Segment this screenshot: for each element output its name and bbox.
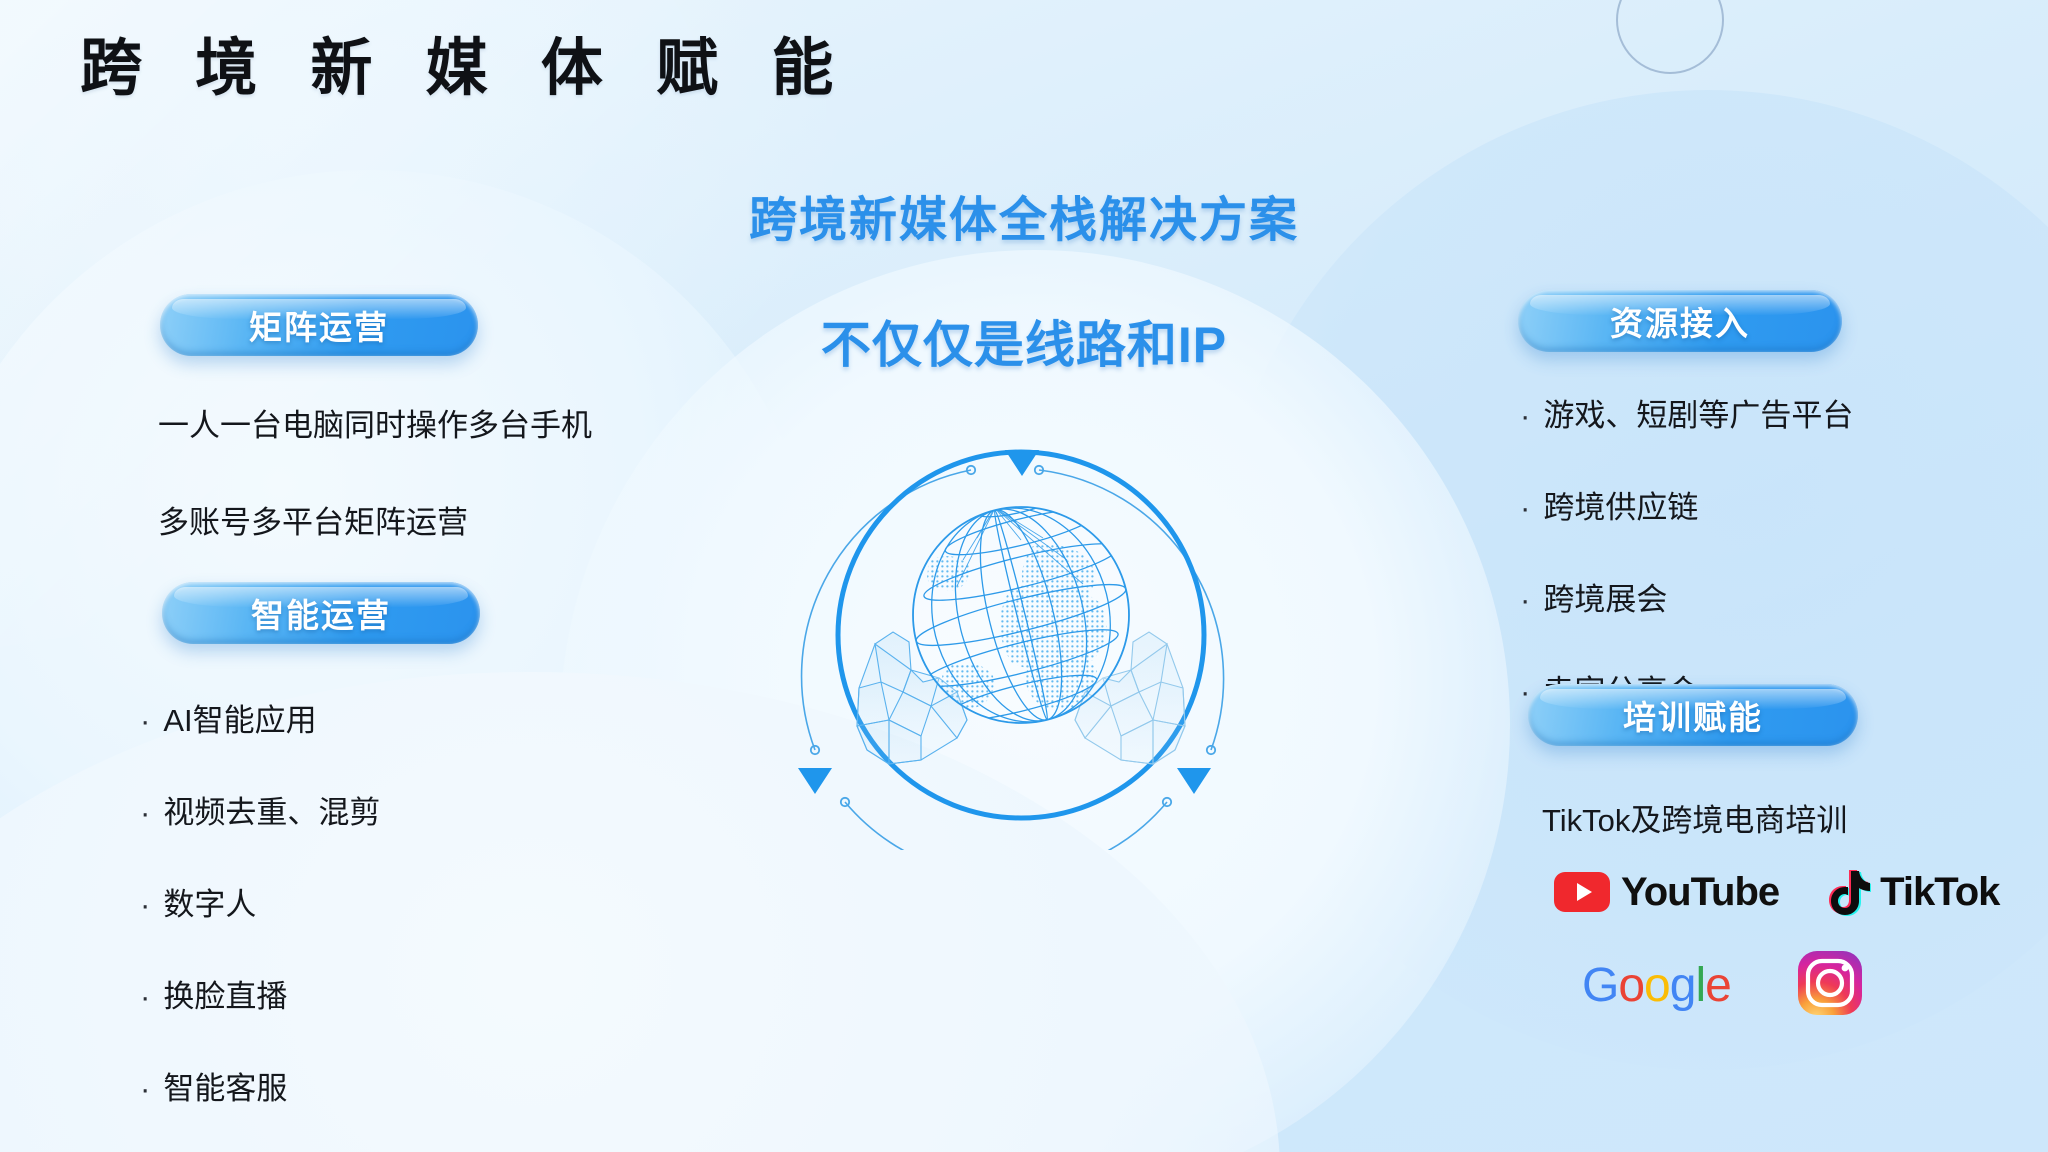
bullet-icon: · [140, 1073, 150, 1104]
google-letter: e [1705, 962, 1731, 1010]
triangle-marker-left [798, 768, 832, 794]
google-logo[interactable]: Google [1582, 962, 1731, 1010]
google-letter: o [1618, 962, 1644, 1010]
instagram-logo[interactable] [1797, 950, 1863, 1021]
triangle-marker-top [1005, 450, 1039, 476]
list-matrix-operation: 一人一台电脑同时操作多台手机 多账号多平台矩阵运营 [158, 400, 592, 594]
list-smart-operation: · AI智能应用 · 视频去重、混剪 · 数字人 · 换脸直播 · 智能客服 [140, 695, 380, 1152]
list-item-label: 数字人 [163, 879, 256, 924]
bullet-icon: · [1520, 492, 1530, 523]
youtube-logo[interactable]: YouTube [1554, 870, 1779, 915]
list-item: · AI智能应用 [140, 695, 380, 740]
slide-canvas: 跨 境 新 媒 体 赋 能 跨境新媒体全栈解决方案 不仅仅是线路和IP [0, 0, 2048, 1152]
badge-label: 资源接入 [1610, 297, 1750, 345]
list-item: · 数字人 [140, 879, 380, 924]
google-letter: G [1582, 962, 1618, 1010]
list-item-label: AI智能应用 [163, 695, 316, 740]
badge-resource-access[interactable]: 资源接入 [1518, 290, 1842, 352]
badge-smart-operation[interactable]: 智能运营 [162, 582, 480, 644]
google-letter: o [1644, 962, 1670, 1010]
list-item: · 换脸直播 [140, 971, 380, 1016]
center-heading-primary: 跨境新媒体全栈解决方案 [749, 180, 1299, 250]
list-item-label: 视频去重、混剪 [163, 787, 380, 832]
youtube-play-icon [1554, 872, 1610, 912]
center-heading-secondary: 不仅仅是线路和IP [821, 305, 1227, 377]
badge-label: 智能运营 [251, 589, 391, 637]
list-item: 一人一台电脑同时操作多台手机 [158, 400, 592, 445]
list-item: · 视频去重、混剪 [140, 787, 380, 832]
list-item-label: 跨境供应链 [1543, 482, 1698, 527]
google-letter: l [1695, 962, 1705, 1010]
bullet-icon: · [1520, 400, 1530, 431]
decorative-circle-icon [1616, 0, 1724, 74]
list-item: · 跨境展会 [1520, 574, 1853, 619]
triangle-marker-right [1177, 768, 1211, 794]
badge-training-empowerment[interactable]: 培训赋能 [1528, 684, 1858, 746]
tiktok-note-icon [1827, 868, 1871, 916]
list-item: · 跨境供应链 [1520, 482, 1853, 527]
bullet-icon: · [140, 797, 150, 828]
bullet-icon: · [140, 705, 150, 736]
partner-logo-group: YouTube TikTok Google [1530, 868, 1950, 1021]
instagram-camera-icon [1797, 950, 1863, 1016]
list-item-label: 游戏、短剧等广告平台 [1543, 390, 1853, 435]
list-item: 多账号多平台矩阵运营 [158, 497, 592, 542]
youtube-wordmark: YouTube [1621, 870, 1779, 915]
logo-row-bottom: Google [1530, 950, 1950, 1021]
badge-label: 矩阵运营 [249, 301, 389, 349]
bullet-icon: · [1520, 584, 1530, 615]
google-letter: g [1670, 962, 1696, 1010]
globe-svg [771, 420, 1271, 850]
list-item-label: 跨境展会 [1543, 574, 1667, 619]
badge-matrix-operation[interactable]: 矩阵运营 [160, 294, 478, 356]
list-item-label: 换脸直播 [163, 971, 287, 1016]
badge-label: 培训赋能 [1623, 691, 1763, 739]
training-description: TikTok及跨境电商培训 [1542, 795, 1847, 840]
list-item: · 游戏、短剧等广告平台 [1520, 390, 1853, 435]
list-item-label: 智能客服 [163, 1063, 287, 1108]
list-item: · 智能客服 [140, 1063, 380, 1108]
bullet-icon: · [140, 889, 150, 920]
globe-graphic [771, 420, 1271, 850]
page-title: 跨 境 新 媒 体 赋 能 [80, 38, 851, 100]
tiktok-wordmark: TikTok [1880, 870, 1999, 915]
logo-row-top: YouTube TikTok [1530, 868, 1950, 916]
tiktok-logo[interactable]: TikTok [1827, 868, 1999, 916]
bullet-icon: · [140, 981, 150, 1012]
bullet-icon: · [1520, 676, 1530, 707]
